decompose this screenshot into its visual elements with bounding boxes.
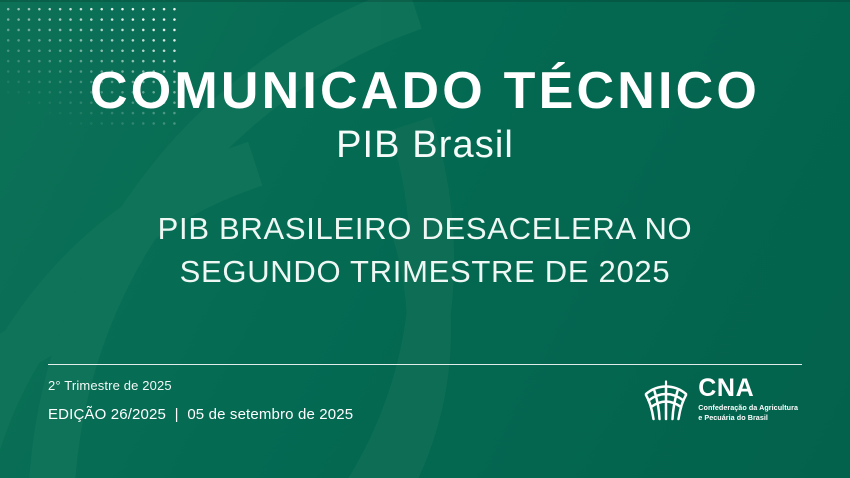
- title-block: COMUNICADO TÉCNICO PIB Brasil: [0, 64, 850, 167]
- footer-text-block: 2° Trimestre de 2025 EDIÇÃO 26/2025 | 05…: [48, 374, 353, 426]
- cna-logo: CNA Confederação da Agricultura e Pecuár…: [643, 374, 798, 422]
- page-subtitle: PIB Brasil: [0, 124, 850, 167]
- cna-logo-text: CNA Confederação da Agricultura e Pecuár…: [698, 376, 798, 422]
- cna-tagline: Confederação da Agricultura e Pecuária d…: [698, 403, 798, 422]
- footer-period: 2° Trimestre de 2025: [48, 376, 353, 396]
- footer-divider: [48, 364, 802, 365]
- cna-acronym: CNA: [698, 376, 798, 401]
- headline-line-1: PIB BRASILEIRO DESACELERA NO: [70, 208, 780, 251]
- page-title: COMUNICADO TÉCNICO: [0, 64, 850, 118]
- cna-sheaf-icon: [643, 377, 689, 421]
- footer: 2° Trimestre de 2025 EDIÇÃO 26/2025 | 05…: [48, 374, 820, 446]
- footer-edition-date: EDIÇÃO 26/2025 | 05 de setembro de 2025: [48, 404, 353, 427]
- headline-line-2: SEGUNDO TRIMESTRE DE 2025: [70, 251, 780, 294]
- cover-content: COMUNICADO TÉCNICO PIB Brasil PIB BRASIL…: [0, 0, 850, 478]
- headline-block: PIB BRASILEIRO DESACELERA NO SEGUNDO TRI…: [0, 208, 850, 294]
- cover-page: COMUNICADO TÉCNICO PIB Brasil PIB BRASIL…: [0, 0, 850, 478]
